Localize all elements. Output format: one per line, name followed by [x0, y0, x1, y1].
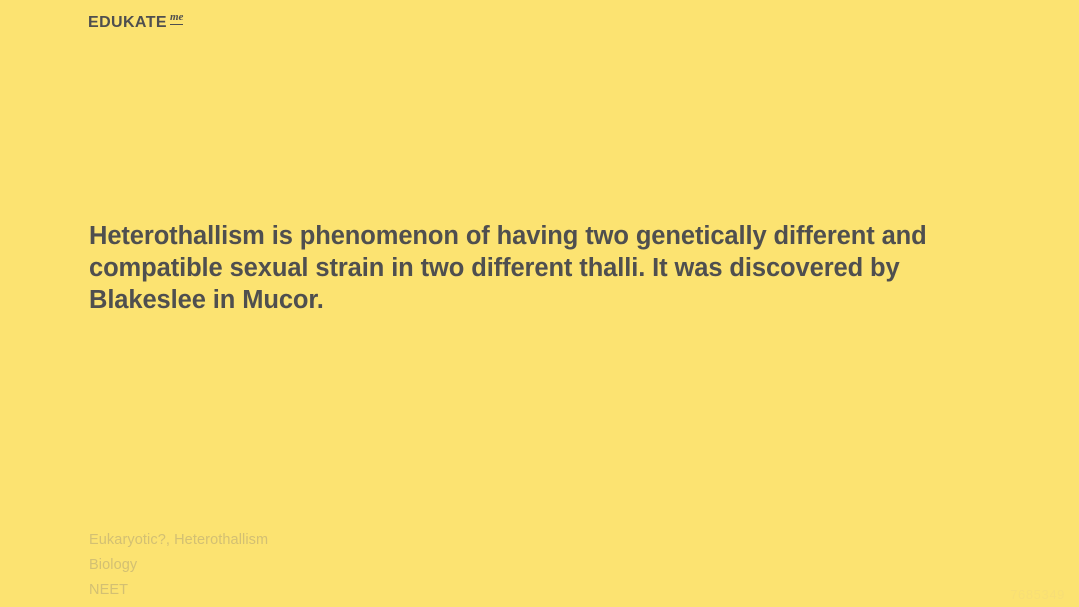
footer-topic: Eukaryotic?, Heterothallism — [89, 528, 268, 553]
slide-canvas: EDUKATE me Heterothallism is phenomenon … — [0, 0, 1079, 607]
statement-text: Heterothallism is phenomenon of having t… — [89, 220, 989, 316]
edukate-logo[interactable]: EDUKATE me — [88, 15, 183, 31]
brand-suffix: me — [170, 12, 183, 25]
footer-subject: Biology — [89, 553, 268, 578]
footer-exam: NEET — [89, 578, 268, 603]
footer-metadata: Eukaryotic?, Heterothallism Biology NEET — [89, 528, 268, 603]
slide-id-watermark: 7685349 — [1010, 587, 1065, 602]
brand-name: EDUKATE — [88, 15, 167, 31]
